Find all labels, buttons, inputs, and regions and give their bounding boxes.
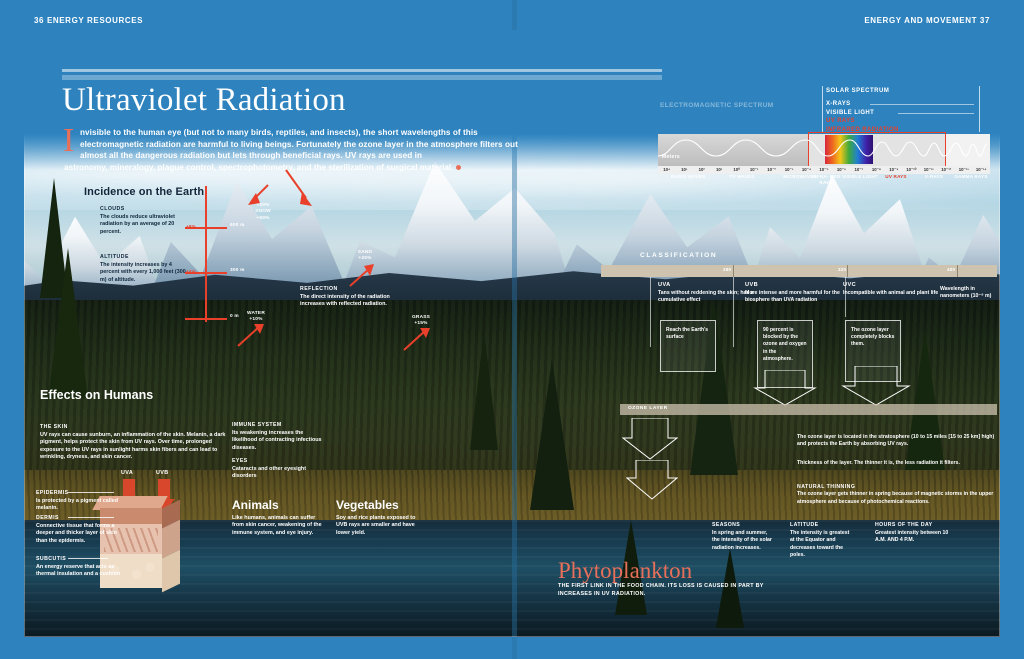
surface-snow-value-b: +50%: [256, 216, 269, 221]
spectrum-exponent-12: 10⁻⁸: [868, 166, 885, 174]
altitude-note: ALTITUDE The intensity increases by 4 pe…: [100, 254, 186, 284]
intro-paragraph: nvisible to the human eye (but not to ma…: [80, 127, 535, 162]
surface-sand-value: +25%: [358, 256, 371, 261]
vegetables-section-title: Vegetables: [336, 498, 399, 512]
spectrum-exponent-11: 10⁻⁷: [850, 166, 867, 174]
skin-side-subcutis: [162, 550, 180, 593]
latitude-text: The intensity is greatest at the Equator…: [790, 530, 852, 560]
eyes-note: EYES Cataracts and other eyesight disord…: [232, 458, 328, 481]
uvb-text: More intense and more harmful for the bi…: [745, 290, 843, 304]
uva-heading: UVA: [658, 282, 756, 288]
intro-last-text: astronomy, mineralogy, plague control, s…: [64, 163, 453, 172]
drop-cap: I: [63, 126, 74, 156]
immune-heading: IMMUNE SYSTEM: [232, 422, 328, 428]
uvb-down-arrow: [753, 370, 817, 406]
tree-icon: [470, 330, 498, 450]
factor-hours-of-day: HOURS OF THE DAY Greatest intensity betw…: [875, 522, 951, 545]
hours-text: Greatest intensity between 10 A.M. AND 4…: [875, 530, 951, 545]
tree-icon: [905, 330, 945, 470]
scale-number-400: 400: [947, 267, 955, 272]
uvc-down-arrow: [841, 366, 911, 406]
uvc-text: Incompatible with animal and plant life: [843, 290, 941, 297]
band-tv-waves: TV WAVES: [716, 174, 768, 180]
solar-row-xrays: X-RAYS: [826, 100, 974, 109]
clouds-text: The clouds reduce ultraviolet radiation …: [100, 214, 186, 236]
spectrum-exponent-16: 10⁻¹²: [938, 166, 955, 174]
ozone-thickness-text: The thinner it is, the less radiation it…: [853, 460, 960, 466]
band-infrared: INFRA- RED RAYS: [808, 174, 844, 186]
uvc-heading: UVC: [843, 282, 941, 288]
solar-spectrum-list: X-RAYS VISIBLE LIGHT UV RAYS INFRARED RA…: [826, 100, 974, 134]
scale-number-320: 320: [838, 267, 846, 272]
spectrum-exponent-6: 10⁻²: [763, 166, 780, 174]
folio-left-label: ENERGY RESOURCES: [47, 16, 143, 25]
spectrum-exponent-9: 10⁻⁵: [815, 166, 832, 174]
spectrum-exponent-13: 10⁻⁹: [885, 166, 902, 174]
spectrum-exponent-14: 10⁻¹⁰: [903, 166, 920, 174]
band-visible-light: VISIBLE LIGHT: [842, 174, 878, 180]
reflection-heading: REFLECTION: [300, 286, 390, 292]
title-rule-bottom: [62, 75, 662, 80]
scale-seg-uvc: [601, 265, 734, 277]
seasons-heading: SEASONS: [712, 522, 774, 528]
band-gamma-rays: GAMMA RAYS: [952, 174, 990, 180]
spectrum-exponent-10: 10⁻⁶: [833, 166, 850, 174]
epidermis-note: EPIDERMIS Is protected by a pigment call…: [36, 490, 128, 513]
clouds-heading: CLOUDS: [100, 206, 186, 212]
the-skin-note: THE SKIN UV rays can cause sunburn, an i…: [40, 424, 230, 462]
altitude-tick-0: [185, 318, 227, 320]
surface-water-name: WATER: [247, 311, 265, 316]
reflection-note: REFLECTION The direct intensity of the r…: [300, 286, 390, 309]
end-dot-icon: [456, 165, 461, 170]
uva-surface-arrow: [626, 460, 678, 500]
infographic-page: 36 ENERGY RESOURCES ENERGY AND MOVEMENT …: [0, 0, 1024, 659]
subcutis-heading: SUBCUTIS: [36, 556, 128, 562]
spectrum-exponent-axis: 10⁴10³10²10¹10⁰10⁻¹10⁻²10⁻³10⁻⁴10⁻⁵10⁻⁶1…: [658, 166, 990, 174]
animals-section-title: Animals: [232, 498, 279, 512]
dermis-text: Connective tissue that forms a deeper an…: [36, 523, 128, 545]
waveform-icon: [658, 134, 990, 166]
eyes-text: Cataracts and other eyesight disorders: [232, 466, 328, 481]
scale-seg-uva: [847, 265, 958, 277]
altitude-label-300: 300 m: [230, 268, 245, 273]
hours-heading: HOURS OF THE DAY: [875, 522, 951, 528]
solar-row-visible-light: VISIBLE LIGHT: [826, 109, 974, 118]
spectrum-exponent-3: 10¹: [710, 166, 727, 174]
altitude-pct-600: +8%: [186, 224, 196, 229]
scale-seg-uvb: [733, 265, 848, 277]
phytoplankton-caption: THE FIRST LINK IN THE FOOD CHAIN. ITS LO…: [558, 582, 773, 598]
title-rule-top: [62, 69, 662, 72]
uv-type-uvb: UVB More intense and more harmful for th…: [745, 282, 843, 304]
altitude-label-600: 600 m: [230, 223, 245, 228]
vegetables-text: Soy and rice plants exposed to UVB rays …: [336, 515, 428, 537]
the-skin-heading: THE SKIN: [40, 424, 230, 430]
folio-right: ENERGY AND MOVEMENT 37: [864, 16, 990, 25]
factor-seasons: SEASONS In spring and summer, the intens…: [712, 522, 774, 552]
folio-right-label: ENERGY AND MOVEMENT: [864, 16, 977, 25]
surface-grass-name: GRASS: [412, 315, 430, 320]
subcutis-note: SUBCUTIS An energy reserve that acts as …: [36, 556, 128, 579]
incoming-ray-arrow: [282, 168, 318, 210]
uv-type-uva: UVA Tans without reddening the skin; has…: [658, 282, 756, 304]
spectrum-units-label: Meters: [662, 154, 680, 160]
ozone-paragraph-3: NATURAL THINNING The ozone layer gets th…: [797, 484, 997, 506]
page-title: Ultraviolet Radiation: [62, 82, 346, 119]
folio-right-number: 37: [980, 16, 990, 25]
animals-text-block: Like humans, animals can suffer from ski…: [232, 515, 324, 537]
reflection-text: The direct intensity of the radiation in…: [300, 294, 390, 309]
subcutis-text: An energy reserve that acts as thermal i…: [36, 564, 128, 579]
page-right-band: [1000, 0, 1024, 659]
band-radio-waves: RADIO WAVES: [658, 174, 718, 180]
uva-through-arrow: [622, 418, 678, 460]
epidermis-heading: EPIDERMIS: [36, 490, 128, 496]
spectrum-exponent-2: 10²: [693, 166, 710, 174]
vegetables-text-block: Soy and rice plants exposed to UVB rays …: [336, 515, 428, 537]
folio-left: 36 ENERGY RESOURCES: [34, 16, 143, 25]
ozone-thickness-heading: Thickness of the layer.: [797, 460, 853, 466]
animals-text: Like humans, animals can suffer from ski…: [232, 515, 324, 537]
altitude-text: The intensity increases by 4 percent wit…: [100, 262, 186, 284]
uva-ray-tag: UVA: [121, 470, 133, 476]
solar-row-uv-rays: UV RAYS: [826, 117, 974, 126]
dermis-heading: DERMIS: [36, 515, 128, 521]
incidence-section-title: Incidence on the Earth: [84, 186, 204, 198]
folio-left-number: 36: [34, 16, 44, 25]
classification-label: CLASSIFICATION: [640, 252, 717, 259]
epidermis-text: Is protected by a pigment called melanin…: [36, 498, 128, 513]
uva-callout: Reach the Earth's surface: [660, 320, 716, 372]
spectrum-exponent-5: 10⁻¹: [745, 166, 762, 174]
uvb-heading: UVB: [745, 282, 843, 288]
uvb-ray-tag: UVB: [156, 470, 169, 476]
spectrum-exponent-17: 10⁻¹³: [955, 166, 972, 174]
dermis-note: DERMIS Connective tissue that forms a de…: [36, 515, 128, 545]
tree-icon: [530, 360, 574, 510]
spectrum-exponent-0: 10⁴: [658, 166, 675, 174]
altitude-label-0: 0 m: [230, 314, 239, 319]
natural-thinning-heading: NATURAL THINNING: [797, 484, 997, 491]
immune-system-note: IMMUNE SYSTEM Its weakening increases th…: [232, 422, 328, 452]
water-reflection-arrow: [234, 322, 266, 350]
spectrum-exponent-15: 10⁻¹¹: [920, 166, 937, 174]
uv-type-uvc: UVC Incompatible with animal and plant l…: [843, 282, 941, 297]
electromagnetic-spectrum-panel: ELECTROMAGNETIC SPECTRUM SOLAR SPECTRUM …: [658, 88, 990, 184]
uva-tick-line: [650, 277, 651, 347]
surface-snow-name: SNOW: [255, 209, 271, 214]
solar-spectrum-title: SOLAR SPECTRUM: [826, 88, 889, 94]
natural-thinning-text: The ozone layer gets thinner in spring b…: [797, 491, 997, 506]
spectrum-exponent-18: 10⁻¹⁴: [972, 166, 989, 174]
eyes-heading: EYES: [232, 458, 328, 464]
spectrum-ghost-title: ELECTROMAGNETIC SPECTRUM: [660, 102, 774, 109]
effects-section-title: Effects on Humans: [40, 388, 160, 402]
the-skin-text: UV rays can cause sunburn, an inflammati…: [40, 432, 230, 462]
latitude-heading: LATITUDE: [790, 522, 852, 528]
wavelength-note: Wavelength in nanometers (10⁻⁹ m): [940, 286, 1002, 300]
surface-sand: SAND +25%: [350, 250, 380, 263]
classification-scale-bar: [601, 265, 997, 277]
ozone-layer-bar: [620, 404, 997, 415]
seasons-text: In spring and summer, the intensity of t…: [712, 530, 774, 552]
spectrum-exponent-7: 10⁻³: [780, 166, 797, 174]
spectrum-band-labels: RADIO WAVES TV WAVES MICROWAVES INFRA- R…: [658, 174, 990, 194]
spectrum-exponent-4: 10⁰: [728, 166, 745, 174]
clouds-note: CLOUDS The clouds reduce ultraviolet rad…: [100, 206, 186, 236]
factor-latitude: LATITUDE The intensity is greatest at th…: [790, 522, 852, 560]
spectrum-exponent-1: 10³: [675, 166, 692, 174]
phytoplankton-title: Phytoplankton: [558, 558, 692, 584]
ozone-layer-label: OZONE LAYER: [628, 406, 668, 411]
band-x-rays: X-RAYS: [914, 174, 954, 180]
sand-reflection-arrow: [346, 262, 376, 290]
altitude-heading: ALTITUDE: [100, 254, 186, 260]
snow-reflection-arrow: [246, 183, 274, 207]
uva-text: Tans without reddening the skin; has a c…: [658, 290, 756, 304]
spectrum-exponent-8: 10⁻⁴: [798, 166, 815, 174]
altitude-axis: [205, 186, 207, 322]
surface-sand-name: SAND: [358, 250, 372, 255]
tree-icon: [48, 248, 88, 398]
altitude-pct-300: +4%: [186, 269, 196, 274]
page-left-band: [0, 0, 24, 659]
ozone-paragraph-1: The ozone layer is located in the strato…: [797, 434, 997, 449]
band-uv-rays: UV RAYS: [876, 174, 916, 180]
immune-text: Its weakening increases the likelihood o…: [232, 430, 328, 452]
grass-reflection-arrow: [400, 326, 432, 354]
scale-number-280: 280: [723, 267, 731, 272]
ozone-paragraph-2: Thickness of the layer. The thinner it i…: [797, 460, 997, 467]
